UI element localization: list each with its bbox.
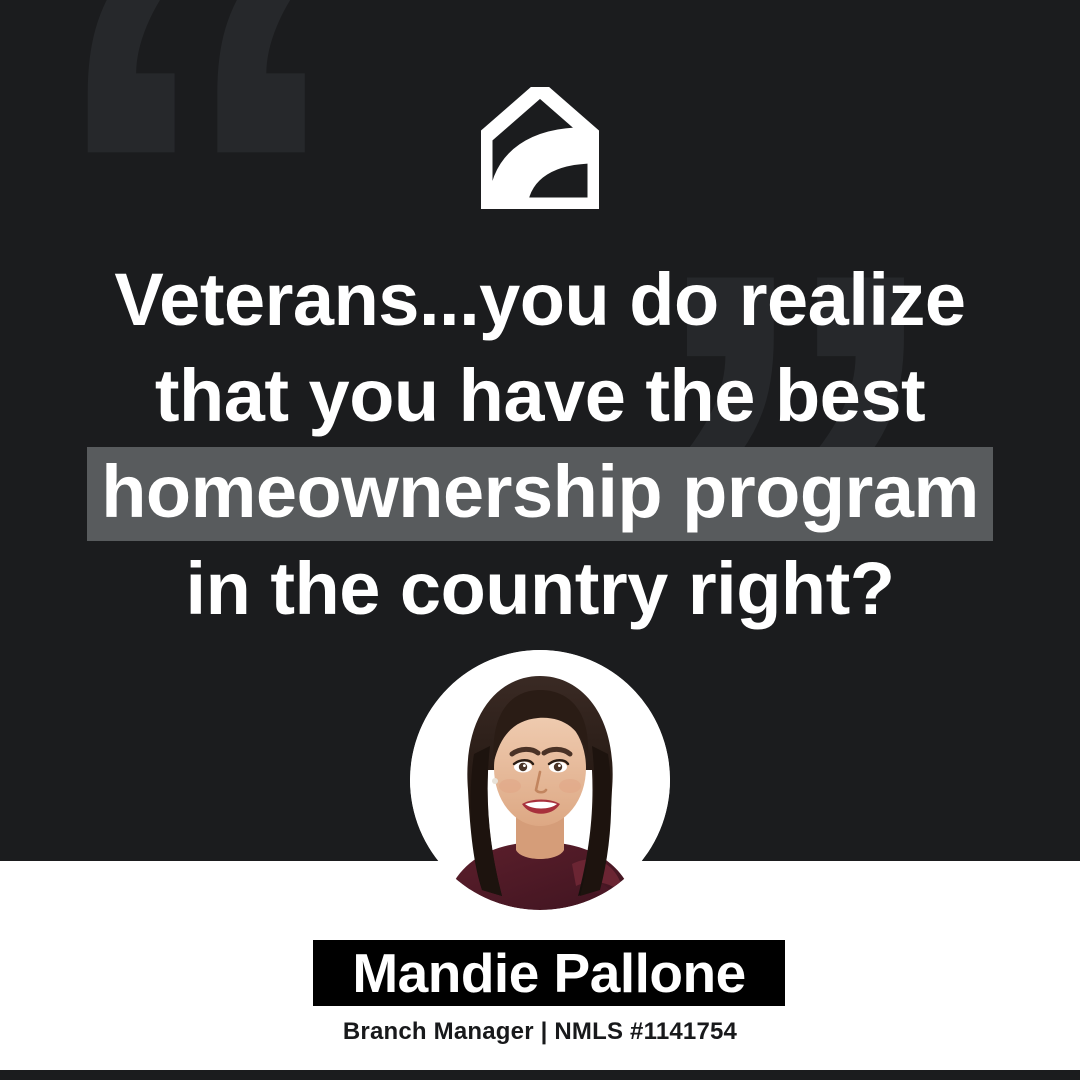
portrait-photo [410, 650, 670, 910]
house-swoosh-logo-icon [481, 87, 599, 209]
quote-text-block: Veterans...you do realize that you have … [0, 252, 1080, 637]
quote-line-4: in the country right? [0, 541, 1080, 637]
avatar [410, 650, 670, 910]
quote-highlight: homeownership program [87, 447, 993, 541]
person-name: Mandie Pallone [352, 946, 745, 1001]
quote-line-3: homeownership program [0, 444, 1080, 541]
brand-logo [0, 86, 1080, 210]
bottom-bar [0, 1070, 1080, 1080]
person-title-line: Branch Manager | NMLS #1141754 [0, 1018, 1080, 1046]
quote-graphic-canvas: “ ” Veterans...you do realize that you h… [0, 0, 1080, 1080]
quote-line-1: Veterans...you do realize [0, 252, 1080, 348]
name-badge: Mandie Pallone [313, 940, 785, 1006]
quote-line-2: that you have the best [0, 348, 1080, 444]
